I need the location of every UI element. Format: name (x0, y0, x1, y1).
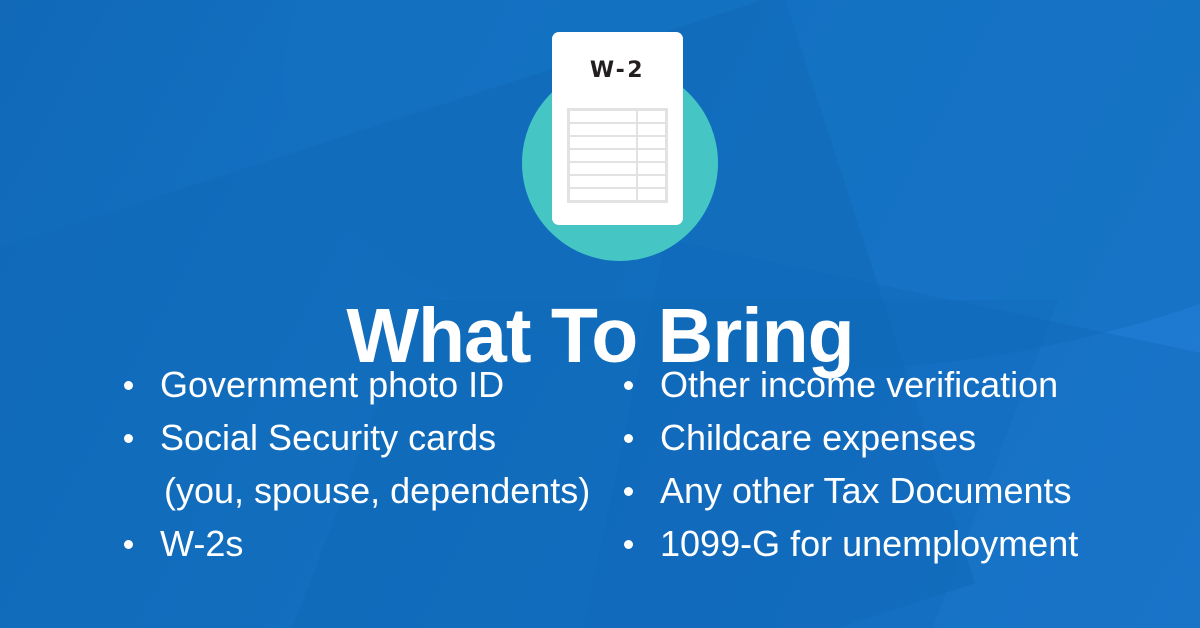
list-item-label: (you, spouse, dependents) (164, 464, 590, 517)
bullet-dot-icon (624, 381, 633, 390)
list-item: W-2s (112, 517, 612, 570)
document-table-row (570, 176, 665, 187)
document-table-row (570, 163, 665, 174)
document-table-cell (570, 150, 636, 161)
list-item: Social Security cards (112, 411, 612, 464)
document-table-cell (638, 176, 665, 187)
document-table-row (570, 150, 665, 161)
checklist-column-right: Other income verification Childcare expe… (612, 358, 1132, 570)
w2-document-icon: W-2 (0, 18, 1200, 238)
list-item-continuation: (you, spouse, dependents) (112, 464, 612, 517)
list-item-label: Childcare expenses (660, 411, 976, 464)
document-table-row (570, 189, 665, 200)
document-table-cell (570, 176, 636, 187)
list-item-label: Government photo ID (160, 358, 504, 411)
list-item-label: Social Security cards (160, 411, 496, 464)
document-table-cell (638, 150, 665, 161)
list-item-label: 1099-G for unemployment (660, 517, 1078, 570)
document-table-row (570, 111, 665, 122)
document-table-cell (638, 111, 665, 122)
document-table-cell (638, 137, 665, 148)
list-item-label: Other income verification (660, 358, 1058, 411)
document-card-icon: W-2 (552, 32, 683, 225)
document-table-icon (567, 108, 668, 203)
list-item: 1099-G for unemployment (612, 517, 1132, 570)
bullet-dot-icon (124, 434, 133, 443)
bullet-dot-icon (124, 381, 133, 390)
checklist-column-left: Government photo ID Social Security card… (112, 358, 612, 570)
list-item: Any other Tax Documents (612, 464, 1132, 517)
what-to-bring-poster: W-2 (0, 0, 1200, 628)
document-table-cell (570, 137, 636, 148)
list-item-label: Any other Tax Documents (660, 464, 1072, 517)
bullet-dot-icon (124, 540, 133, 549)
document-table-row (570, 137, 665, 148)
document-form-label: W-2 (552, 58, 683, 83)
bullet-dot-icon (624, 434, 633, 443)
document-table-cell (570, 189, 636, 200)
document-table-cell (638, 124, 665, 135)
list-item: Childcare expenses (612, 411, 1132, 464)
list-item: Government photo ID (112, 358, 612, 411)
document-table-cell (638, 163, 665, 174)
document-table-cell (570, 111, 636, 122)
document-table-cell (638, 189, 665, 200)
bullet-dot-icon (624, 487, 633, 496)
checklist-columns: Government photo ID Social Security card… (0, 358, 1200, 578)
document-table-row (570, 124, 665, 135)
list-item: Other income verification (612, 358, 1132, 411)
bullet-dot-icon (624, 540, 633, 549)
document-table-cell (570, 124, 636, 135)
list-item-label: W-2s (160, 517, 243, 570)
document-table-cell (570, 163, 636, 174)
